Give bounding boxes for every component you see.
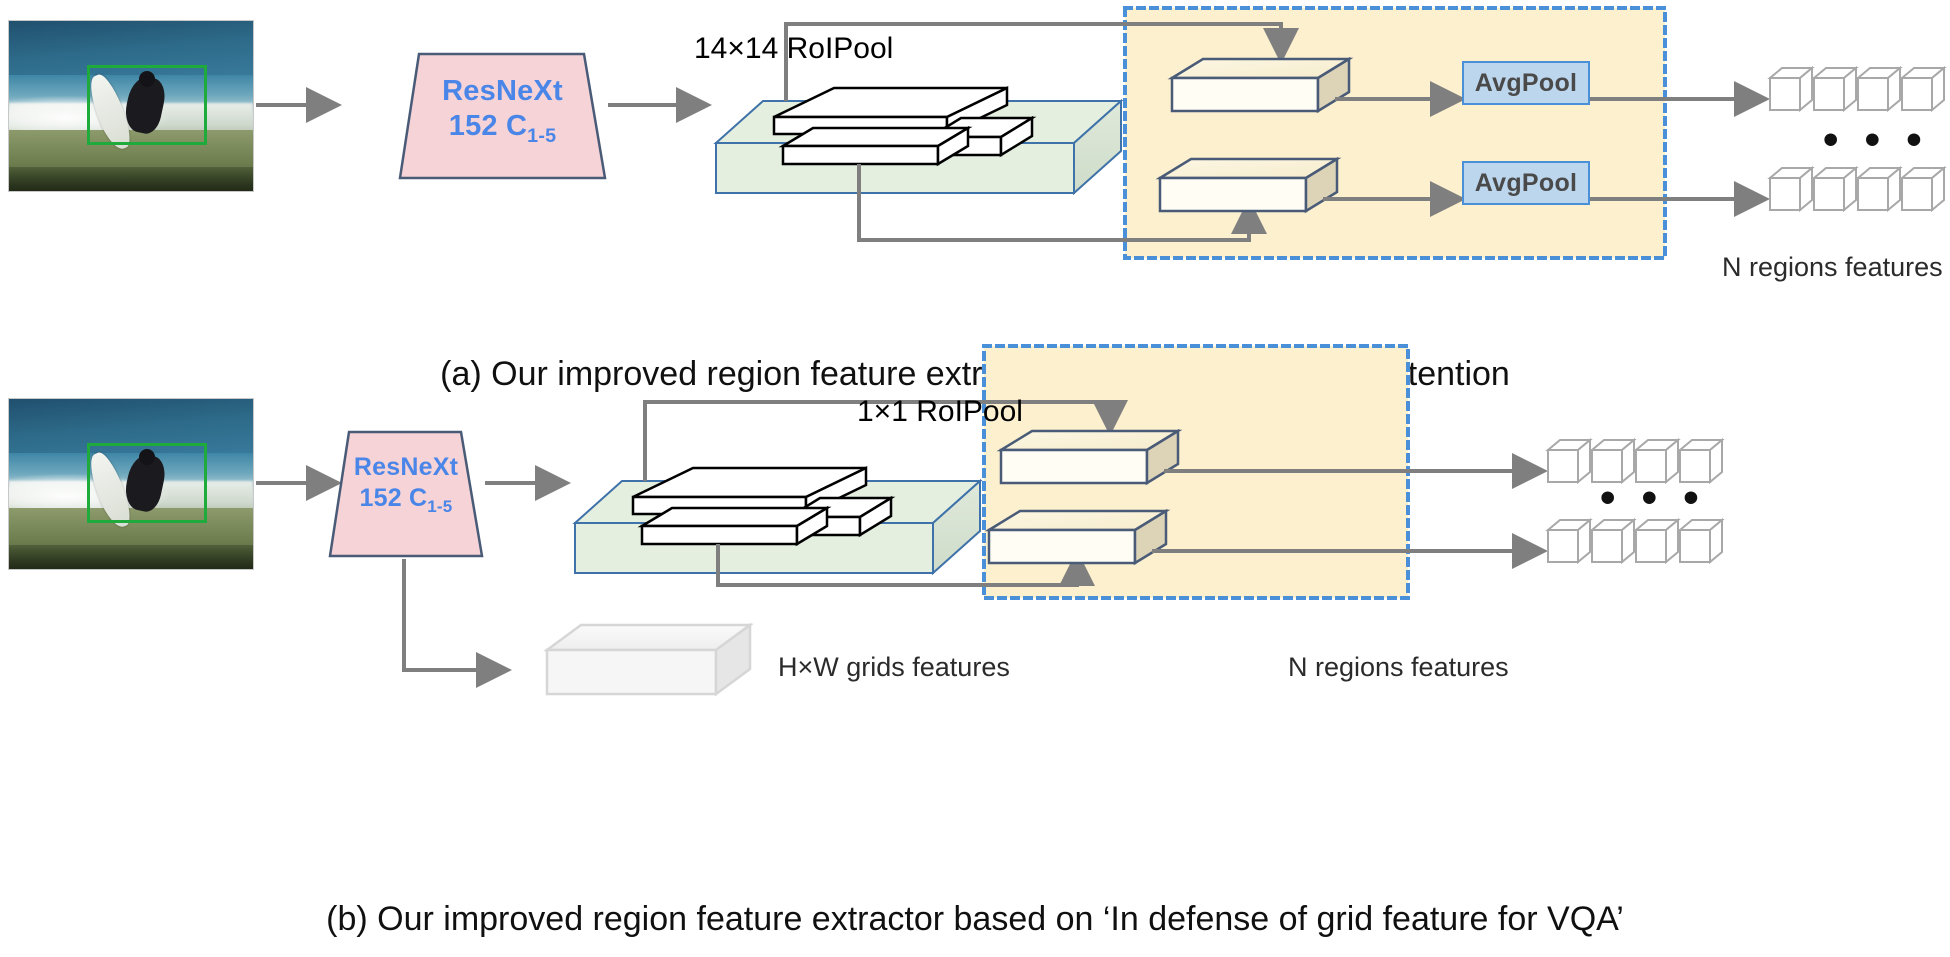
- panel-a-avgpool-1[interactable]: AvgPool: [1462, 61, 1590, 105]
- panel-b-roipool-text: 1×1 RoIPool: [857, 395, 1023, 428]
- panel-a-roipool-text: 14×14 RoIPool: [694, 32, 893, 65]
- panel-a-vector-layer: [0, 0, 1950, 340]
- panel-b-ellipsis: • • •: [1600, 476, 1706, 520]
- panel-b: ResNeXt 152 C1-5 1×1 RoIPool • • • H×W g…: [0, 340, 1950, 900]
- panel-a-backbone-shape: [400, 54, 605, 178]
- panel-b-grid-slab: [547, 625, 750, 694]
- figure-root: ResNeXt 152 C1-5 14×14 RoIPool AvgPool A…: [0, 0, 1950, 957]
- panel-a-feature-cubes-row-1: [1770, 68, 1944, 110]
- panel-a-roi-region-container: [1125, 8, 1665, 258]
- panel-b-feature-cubes-row-2: [1548, 520, 1722, 562]
- panel-b-pooled-slab-1: [1001, 431, 1178, 483]
- panel-b-caption: (b) Our improved region feature extracto…: [0, 900, 1950, 939]
- panel-a-roipool-label: 14×14 RoIPool: [694, 32, 893, 66]
- panel-a: ResNeXt 152 C1-5 14×14 RoIPool AvgPool A…: [0, 0, 1950, 340]
- panel-a-pooled-slab-1: [1172, 59, 1349, 111]
- panel-b-backbone-shape: [330, 432, 482, 556]
- panel-b-pooled-slab-2: [989, 511, 1166, 563]
- panel-b-grid-note: H×W grids features: [778, 652, 1010, 683]
- panel-a-pooled-slab-2: [1160, 159, 1337, 211]
- panel-b-output-note: N regions features: [1288, 652, 1509, 683]
- panel-a-output-note: N regions features: [1722, 252, 1943, 283]
- panel-b-roipool-label: 1×1 RoIPool: [857, 395, 1023, 429]
- panel-a-avgpool-2[interactable]: AvgPool: [1462, 161, 1590, 205]
- panel-a-roi-box-3: [783, 128, 968, 164]
- panel-a-ellipsis: • • •: [1823, 118, 1929, 162]
- panel-a-feature-cubes-row-2: [1770, 168, 1944, 210]
- panel-b-roi-box-3: [642, 508, 827, 544]
- panel-b-connector-to-grid-slab: [404, 559, 504, 670]
